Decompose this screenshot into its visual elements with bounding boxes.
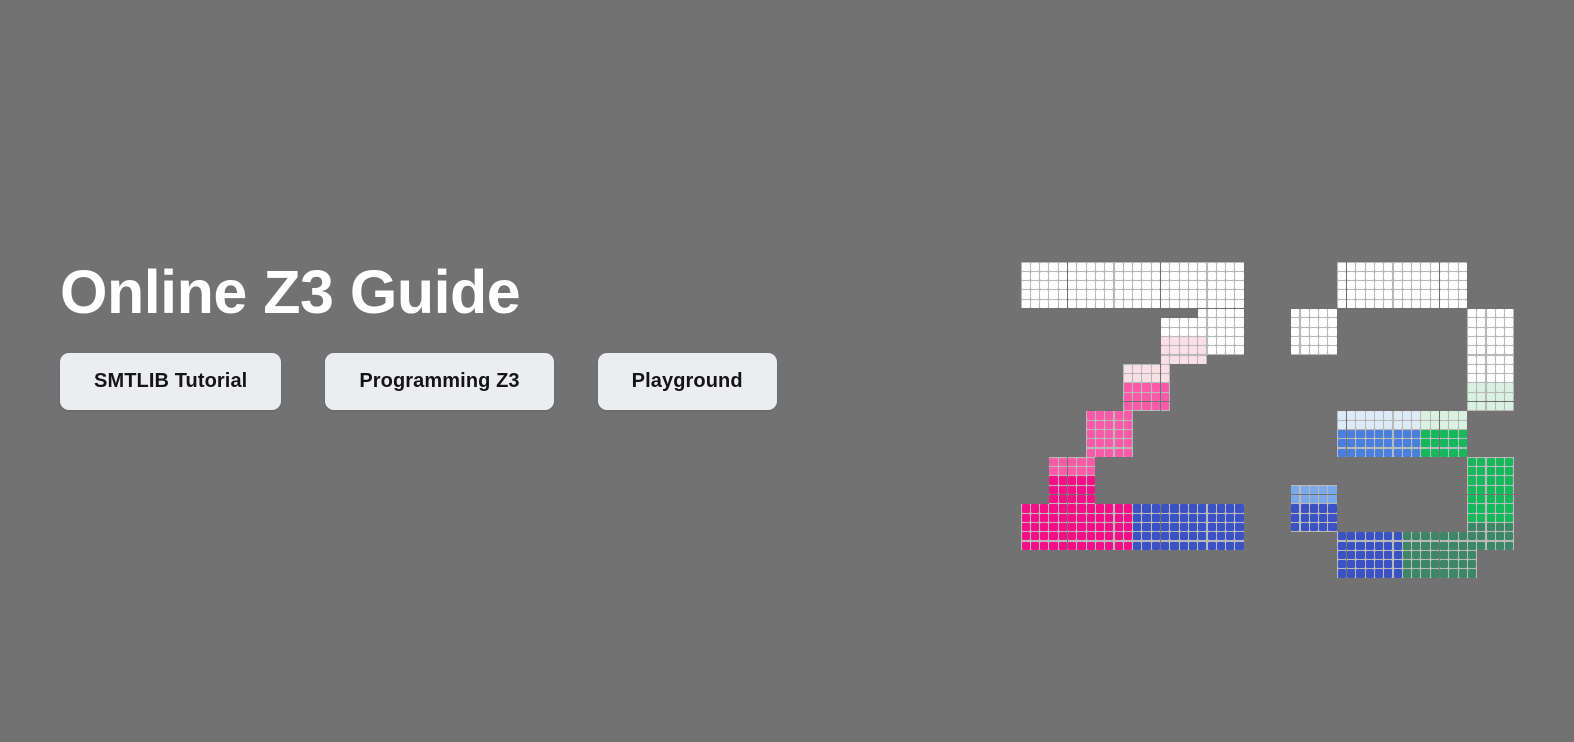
logo-pixel bbox=[1347, 421, 1355, 429]
logo-pixel bbox=[1347, 560, 1355, 568]
logo-pixel bbox=[1412, 439, 1420, 447]
logo-pixel bbox=[1477, 486, 1485, 494]
logo-pixel bbox=[1403, 542, 1411, 550]
logo-pixel bbox=[1431, 532, 1439, 540]
logo-pixel bbox=[1096, 514, 1104, 522]
logo-pixel bbox=[1235, 290, 1243, 298]
playground-button[interactable]: Playground bbox=[598, 353, 777, 410]
logo-pixel bbox=[1105, 263, 1113, 271]
logo-pixel bbox=[1142, 523, 1150, 531]
logo-pixel bbox=[1449, 449, 1457, 457]
logo-pixel bbox=[1449, 300, 1457, 308]
logo-pixel bbox=[1170, 346, 1178, 354]
logo-pixel bbox=[1449, 411, 1457, 419]
logo-pixel bbox=[1375, 272, 1383, 280]
logo-pixel bbox=[1142, 300, 1150, 308]
logo-pixel bbox=[1384, 263, 1392, 271]
logo-pixel bbox=[1431, 569, 1439, 577]
logo-pixel bbox=[1049, 467, 1057, 475]
logo-pixel bbox=[1477, 532, 1485, 540]
logo-pixel bbox=[1189, 337, 1197, 345]
logo-pixel bbox=[1366, 263, 1374, 271]
logo-pixel bbox=[1468, 337, 1476, 345]
logo-pixel bbox=[1347, 263, 1355, 271]
logo-pixel bbox=[1338, 411, 1346, 419]
logo-pixel bbox=[1142, 290, 1150, 298]
logo-pixel bbox=[1124, 393, 1132, 401]
logo-pixel bbox=[1487, 467, 1495, 475]
logo-pixel bbox=[1115, 542, 1123, 550]
logo-pixel bbox=[1477, 495, 1485, 503]
logo-pixel bbox=[1477, 365, 1485, 373]
logo-pixel bbox=[1394, 560, 1402, 568]
logo-pixel bbox=[1356, 411, 1364, 419]
logo-pixel bbox=[1170, 318, 1178, 326]
logo-pixel bbox=[1022, 300, 1030, 308]
logo-pixel bbox=[1217, 263, 1225, 271]
logo-pixel bbox=[1338, 430, 1346, 438]
logo-pixel bbox=[1040, 542, 1048, 550]
logo-pixel bbox=[1124, 272, 1132, 280]
logo-pixel bbox=[1198, 281, 1206, 289]
logo-pixel bbox=[1301, 318, 1309, 326]
logo-pixel bbox=[1031, 542, 1039, 550]
logo-pixel bbox=[1087, 272, 1095, 280]
logo-pixel bbox=[1310, 328, 1318, 336]
logo-pixel bbox=[1477, 402, 1485, 410]
logo-pixel bbox=[1208, 309, 1216, 317]
logo-pixel bbox=[1459, 290, 1467, 298]
logo-pixel bbox=[1040, 504, 1048, 512]
logo-pixel bbox=[1059, 532, 1067, 540]
logo-pixel bbox=[1152, 365, 1160, 373]
logo-pixel bbox=[1505, 486, 1513, 494]
logo-pixel bbox=[1115, 532, 1123, 540]
logo-pixel bbox=[1087, 449, 1095, 457]
logo-pixel bbox=[1115, 421, 1123, 429]
logo-pixel bbox=[1096, 272, 1104, 280]
logo-pixel bbox=[1217, 532, 1225, 540]
logo-pixel bbox=[1403, 411, 1411, 419]
logo-pixel bbox=[1198, 542, 1206, 550]
logo-pixel bbox=[1096, 504, 1104, 512]
logo-pixel bbox=[1366, 290, 1374, 298]
logo-pixel bbox=[1505, 514, 1513, 522]
logo-pixel bbox=[1440, 272, 1448, 280]
logo-pixel bbox=[1031, 532, 1039, 540]
logo-pixel bbox=[1468, 393, 1476, 401]
logo-pixel bbox=[1217, 514, 1225, 522]
logo-pixel bbox=[1170, 356, 1178, 364]
logo-pixel bbox=[1189, 300, 1197, 308]
logo-pixel bbox=[1421, 300, 1429, 308]
logo-pixel bbox=[1105, 523, 1113, 531]
logo-pixel bbox=[1394, 542, 1402, 550]
logo-pixel bbox=[1403, 421, 1411, 429]
logo-pixel bbox=[1403, 551, 1411, 559]
logo-pixel bbox=[1356, 281, 1364, 289]
logo-pixel bbox=[1384, 551, 1392, 559]
logo-pixel bbox=[1133, 542, 1141, 550]
logo-pixel bbox=[1124, 504, 1132, 512]
logo-pixel bbox=[1031, 272, 1039, 280]
hero-text-column: Online Z3 Guide SMTLIB Tutorial Programm… bbox=[60, 258, 980, 410]
logo-pixel bbox=[1487, 356, 1495, 364]
logo-pixel bbox=[1291, 486, 1299, 494]
logo-pixel bbox=[1505, 309, 1513, 317]
logo-pixel bbox=[1468, 402, 1476, 410]
logo-pixel bbox=[1068, 495, 1076, 503]
logo-pixel bbox=[1068, 486, 1076, 494]
programming-z3-button[interactable]: Programming Z3 bbox=[325, 353, 553, 410]
logo-pixel bbox=[1133, 532, 1141, 540]
logo-pixel bbox=[1161, 346, 1169, 354]
logo-pixel bbox=[1049, 514, 1057, 522]
logo-pixel bbox=[1217, 272, 1225, 280]
logo-pixel bbox=[1161, 263, 1169, 271]
logo-pixel bbox=[1384, 421, 1392, 429]
logo-pixel bbox=[1124, 514, 1132, 522]
logo-pixel bbox=[1226, 532, 1234, 540]
logo-pixel bbox=[1208, 263, 1216, 271]
logo-pixel bbox=[1161, 356, 1169, 364]
logo-pixel bbox=[1310, 514, 1318, 522]
smtlib-tutorial-button[interactable]: SMTLIB Tutorial bbox=[60, 353, 281, 410]
logo-pixel bbox=[1366, 560, 1374, 568]
logo-pixel bbox=[1496, 542, 1504, 550]
logo-pixel bbox=[1059, 281, 1067, 289]
logo-pixel bbox=[1487, 318, 1495, 326]
logo-pixel bbox=[1198, 337, 1206, 345]
logo-pixel bbox=[1049, 523, 1057, 531]
logo-pixel bbox=[1133, 523, 1141, 531]
logo-pixel bbox=[1208, 290, 1216, 298]
logo-pixel bbox=[1152, 542, 1160, 550]
logo-pixel bbox=[1180, 514, 1188, 522]
logo-pixel bbox=[1366, 532, 1374, 540]
logo-pixel bbox=[1310, 318, 1318, 326]
logo-pixel bbox=[1412, 421, 1420, 429]
logo-pixel bbox=[1459, 532, 1467, 540]
logo-pixel bbox=[1031, 504, 1039, 512]
logo-pixel bbox=[1384, 569, 1392, 577]
logo-pixel bbox=[1347, 272, 1355, 280]
logo-pixel bbox=[1403, 272, 1411, 280]
logo-pixel bbox=[1040, 290, 1048, 298]
logo-pixel bbox=[1180, 272, 1188, 280]
logo-pixel bbox=[1059, 300, 1067, 308]
logo-pixel bbox=[1421, 290, 1429, 298]
logo-pixel bbox=[1431, 449, 1439, 457]
logo-pixel bbox=[1022, 272, 1030, 280]
logo-pixel bbox=[1487, 309, 1495, 317]
logo-pixel bbox=[1487, 383, 1495, 391]
logo-pixel bbox=[1477, 523, 1485, 531]
logo-pixel bbox=[1059, 542, 1067, 550]
logo-pixel bbox=[1496, 458, 1504, 466]
logo-pixel bbox=[1115, 272, 1123, 280]
logo-pixel bbox=[1487, 495, 1495, 503]
logo-pixel bbox=[1142, 365, 1150, 373]
logo-pixel bbox=[1180, 356, 1188, 364]
logo-pixel bbox=[1170, 504, 1178, 512]
logo-pixel bbox=[1133, 290, 1141, 298]
logo-pixel bbox=[1468, 467, 1476, 475]
logo-pixel bbox=[1421, 551, 1429, 559]
logo-pixel bbox=[1152, 514, 1160, 522]
logo-pixel bbox=[1403, 300, 1411, 308]
logo-pixel bbox=[1077, 290, 1085, 298]
logo-pixel bbox=[1319, 346, 1327, 354]
logo-pixel bbox=[1347, 551, 1355, 559]
logo-pixel bbox=[1347, 300, 1355, 308]
logo-pixel bbox=[1403, 290, 1411, 298]
logo-pixel bbox=[1366, 569, 1374, 577]
logo-pixel bbox=[1124, 402, 1132, 410]
logo-pixel bbox=[1384, 300, 1392, 308]
logo-pixel bbox=[1115, 290, 1123, 298]
logo-pixel bbox=[1198, 272, 1206, 280]
logo-pixel bbox=[1049, 458, 1057, 466]
logo-pixel bbox=[1505, 523, 1513, 531]
logo-pixel bbox=[1459, 430, 1467, 438]
logo-pixel bbox=[1235, 504, 1243, 512]
logo-pixel bbox=[1375, 551, 1383, 559]
logo-pixel bbox=[1440, 411, 1448, 419]
logo-pixel bbox=[1328, 514, 1336, 522]
logo-pixel bbox=[1142, 402, 1150, 410]
logo-pixel bbox=[1468, 318, 1476, 326]
logo-pixel bbox=[1440, 263, 1448, 271]
logo-pixel bbox=[1142, 263, 1150, 271]
logo-pixel bbox=[1068, 523, 1076, 531]
logo-pixel bbox=[1068, 300, 1076, 308]
logo-pixel bbox=[1198, 309, 1206, 317]
logo-pixel bbox=[1059, 476, 1067, 484]
logo-pixel bbox=[1347, 430, 1355, 438]
logo-pixel bbox=[1189, 542, 1197, 550]
logo-pixel bbox=[1496, 393, 1504, 401]
logo-pixel bbox=[1198, 523, 1206, 531]
logo-pixel bbox=[1124, 300, 1132, 308]
logo-pixel bbox=[1096, 430, 1104, 438]
logo-pixel bbox=[1421, 569, 1429, 577]
logo-pixel bbox=[1142, 504, 1150, 512]
logo-pixel bbox=[1468, 504, 1476, 512]
logo-pixel bbox=[1133, 514, 1141, 522]
logo-pixel bbox=[1077, 476, 1085, 484]
logo-pixel bbox=[1077, 514, 1085, 522]
logo-pixel bbox=[1142, 272, 1150, 280]
logo-pixel bbox=[1105, 532, 1113, 540]
logo-pixel bbox=[1068, 542, 1076, 550]
logo-pixel bbox=[1189, 356, 1197, 364]
logo-pixel bbox=[1217, 318, 1225, 326]
logo-pixel bbox=[1487, 504, 1495, 512]
logo-pixel bbox=[1338, 281, 1346, 289]
logo-pixel bbox=[1077, 300, 1085, 308]
logo-pixel bbox=[1505, 476, 1513, 484]
logo-pixel bbox=[1375, 569, 1383, 577]
logo-pixel bbox=[1421, 430, 1429, 438]
logo-pixel bbox=[1356, 551, 1364, 559]
logo-pixel bbox=[1077, 495, 1085, 503]
logo-pixel bbox=[1180, 346, 1188, 354]
logo-pixel bbox=[1347, 439, 1355, 447]
logo-pixel bbox=[1087, 281, 1095, 289]
logo-pixel bbox=[1319, 318, 1327, 326]
logo-pixel bbox=[1087, 486, 1095, 494]
logo-pixel bbox=[1142, 542, 1150, 550]
logo-pixel bbox=[1403, 449, 1411, 457]
logo-pixel bbox=[1291, 318, 1299, 326]
logo-pixel bbox=[1291, 346, 1299, 354]
logo-pixel bbox=[1180, 328, 1188, 336]
logo-pixel bbox=[1301, 504, 1309, 512]
logo-pixel bbox=[1468, 476, 1476, 484]
logo-pixel bbox=[1170, 281, 1178, 289]
logo-pixel bbox=[1124, 263, 1132, 271]
logo-pixel bbox=[1412, 560, 1420, 568]
logo-pixel bbox=[1375, 421, 1383, 429]
logo-pixel bbox=[1087, 542, 1095, 550]
logo-pixel bbox=[1115, 514, 1123, 522]
logo-pixel bbox=[1152, 374, 1160, 382]
logo-pixel bbox=[1328, 337, 1336, 345]
logo-pixel bbox=[1291, 523, 1299, 531]
logo-pixel bbox=[1319, 328, 1327, 336]
logo-pixel bbox=[1077, 467, 1085, 475]
logo-pixel bbox=[1440, 421, 1448, 429]
logo-pixel bbox=[1421, 532, 1429, 540]
logo-pixel bbox=[1087, 439, 1095, 447]
logo-pixel bbox=[1319, 514, 1327, 522]
logo-pixel bbox=[1468, 328, 1476, 336]
logo-pixel bbox=[1440, 449, 1448, 457]
logo-pixel bbox=[1468, 542, 1476, 550]
logo-pixel bbox=[1198, 328, 1206, 336]
logo-pixel bbox=[1496, 337, 1504, 345]
logo-pixel bbox=[1170, 542, 1178, 550]
logo-pixel bbox=[1319, 504, 1327, 512]
logo-pixel bbox=[1394, 411, 1402, 419]
logo-pixel bbox=[1310, 486, 1318, 494]
logo-pixel bbox=[1049, 263, 1057, 271]
logo-pixel bbox=[1226, 514, 1234, 522]
logo-pixel bbox=[1189, 318, 1197, 326]
logo-pixel bbox=[1124, 542, 1132, 550]
logo-pixel bbox=[1170, 532, 1178, 540]
logo-pixel bbox=[1468, 309, 1476, 317]
logo-pixel bbox=[1505, 467, 1513, 475]
logo-pixel bbox=[1235, 318, 1243, 326]
logo-pixel bbox=[1468, 356, 1476, 364]
logo-pixel bbox=[1170, 337, 1178, 345]
logo-pixel bbox=[1059, 495, 1067, 503]
logo-pixel bbox=[1217, 328, 1225, 336]
logo-pixel bbox=[1077, 504, 1085, 512]
logo-pixel bbox=[1198, 318, 1206, 326]
logo-pixel bbox=[1487, 542, 1495, 550]
logo-pixel bbox=[1235, 514, 1243, 522]
logo-pixel bbox=[1375, 542, 1383, 550]
logo-pixel bbox=[1412, 542, 1420, 550]
logo-pixel bbox=[1152, 281, 1160, 289]
logo-pixel bbox=[1468, 486, 1476, 494]
logo-pixel bbox=[1198, 290, 1206, 298]
logo-pixel bbox=[1068, 290, 1076, 298]
logo-pixel bbox=[1059, 514, 1067, 522]
logo-pixel bbox=[1161, 300, 1169, 308]
logo-pixel bbox=[1375, 290, 1383, 298]
logo-pixel bbox=[1301, 346, 1309, 354]
logo-pixel bbox=[1431, 290, 1439, 298]
logo-pixel bbox=[1459, 439, 1467, 447]
logo-pixel bbox=[1505, 402, 1513, 410]
logo-pixel bbox=[1105, 449, 1113, 457]
logo-pixel bbox=[1338, 532, 1346, 540]
logo-pixel bbox=[1431, 430, 1439, 438]
logo-pixel bbox=[1477, 318, 1485, 326]
logo-pixel bbox=[1040, 532, 1048, 540]
logo-pixel bbox=[1161, 402, 1169, 410]
logo-pixel bbox=[1189, 290, 1197, 298]
logo-pixel bbox=[1338, 439, 1346, 447]
logo-pixel bbox=[1096, 411, 1104, 419]
logo-pixel bbox=[1366, 439, 1374, 447]
logo-pixel bbox=[1431, 560, 1439, 568]
logo-pixel bbox=[1496, 309, 1504, 317]
logo-pixel bbox=[1505, 383, 1513, 391]
logo-pixel bbox=[1384, 411, 1392, 419]
logo-pixel bbox=[1133, 393, 1141, 401]
logo-pixel bbox=[1226, 542, 1234, 550]
logo-pixel bbox=[1096, 523, 1104, 531]
logo-pixel bbox=[1468, 569, 1476, 577]
logo-pixel bbox=[1431, 421, 1439, 429]
logo-pixel bbox=[1505, 495, 1513, 503]
logo-pixel bbox=[1394, 272, 1402, 280]
logo-pixel bbox=[1068, 263, 1076, 271]
logo-pixel bbox=[1477, 476, 1485, 484]
logo-pixel bbox=[1235, 263, 1243, 271]
logo-pixel bbox=[1328, 309, 1336, 317]
logo-pixel bbox=[1022, 514, 1030, 522]
logo-pixel bbox=[1226, 272, 1234, 280]
logo-pixel bbox=[1133, 402, 1141, 410]
logo-pixel bbox=[1440, 532, 1448, 540]
logo-pixel bbox=[1087, 458, 1095, 466]
logo-pixel bbox=[1161, 318, 1169, 326]
logo-pixel bbox=[1226, 337, 1234, 345]
logo-pixel bbox=[1440, 439, 1448, 447]
logo-pixel bbox=[1459, 542, 1467, 550]
logo-pixel bbox=[1040, 263, 1048, 271]
logo-pixel bbox=[1412, 532, 1420, 540]
logo-pixel bbox=[1431, 551, 1439, 559]
logo-pixel bbox=[1170, 514, 1178, 522]
logo-pixel bbox=[1049, 532, 1057, 540]
logo-pixel bbox=[1198, 532, 1206, 540]
logo-pixel bbox=[1189, 281, 1197, 289]
logo-pixel bbox=[1356, 430, 1364, 438]
logo-pixel bbox=[1189, 504, 1197, 512]
logo-pixel bbox=[1124, 383, 1132, 391]
logo-pixel bbox=[1170, 328, 1178, 336]
logo-pixel bbox=[1375, 263, 1383, 271]
logo-pixel bbox=[1477, 328, 1485, 336]
logo-pixel bbox=[1161, 504, 1169, 512]
